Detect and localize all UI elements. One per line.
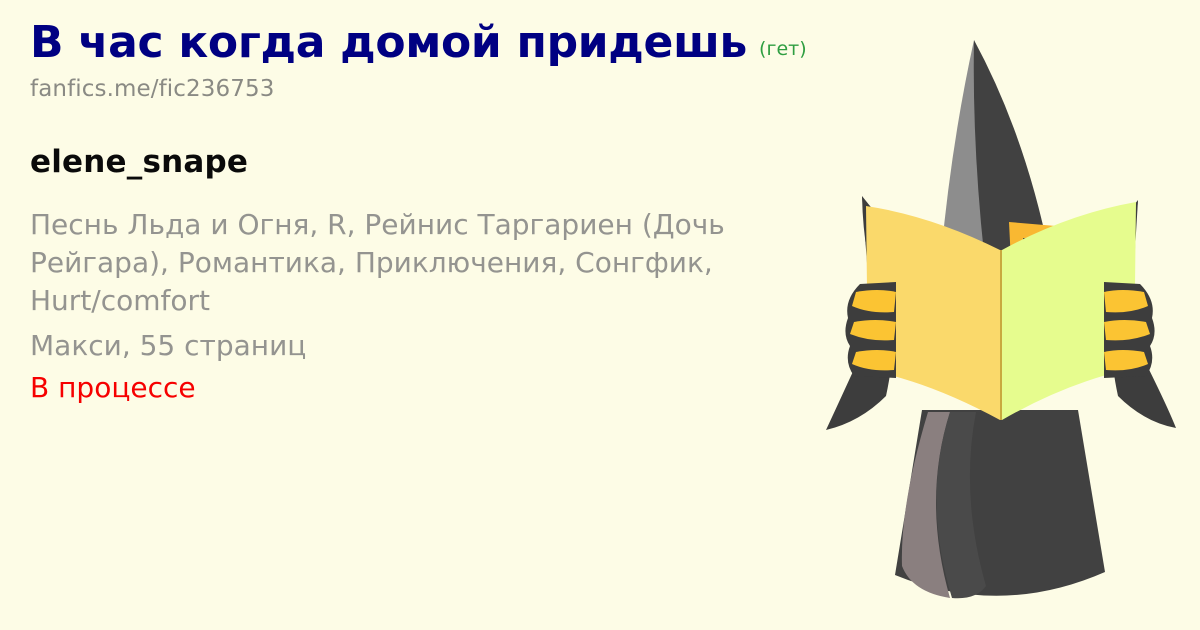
hand-right-shape (1104, 282, 1155, 378)
robe-body-group (895, 410, 1105, 598)
fic-info-column: В час когда домой придешь (гет) fanfics.… (30, 18, 830, 407)
hat-buckle (1009, 222, 1060, 282)
finger-right-1 (1104, 290, 1148, 312)
fic-category-badge: (гет) (759, 38, 807, 60)
hat-buckle-group (1009, 222, 1060, 282)
finger-right-3 (1104, 350, 1148, 370)
fic-tags: Песнь Льда и Огня, R, Рейнис Таргариен (… (30, 206, 810, 320)
fanfic-preview-card: В час когда домой придешь (гет) fanfics.… (0, 0, 1200, 630)
open-book-group (866, 202, 1136, 420)
book-page-right (1002, 202, 1136, 420)
status-badge: В процессе (30, 369, 830, 407)
hand-right (1104, 282, 1155, 378)
finger-left-1 (852, 290, 896, 312)
fic-url[interactable]: fanfics.me/fic236753 (30, 76, 830, 102)
wizard-reading-book-illustration (800, 0, 1200, 630)
hat-brim (862, 196, 1138, 332)
title-row: В час когда домой придешь (гет) (30, 18, 830, 67)
sleeve-left (826, 196, 894, 430)
finger-left-3 (852, 350, 896, 370)
finger-left-2 (850, 320, 896, 340)
robe-body (895, 410, 1105, 596)
sleeves-group (826, 196, 1176, 430)
fic-size: Макси, 55 страниц (30, 327, 830, 365)
wizard-hat-group (862, 40, 1138, 332)
hat-cone (940, 40, 1012, 268)
sleeve-right (1110, 200, 1176, 428)
robe-shadow-left (902, 412, 950, 598)
book-spine (1000, 250, 1002, 420)
hands-group (845, 282, 1154, 378)
finger-right-2 (1104, 320, 1150, 340)
robe-highlight-left (936, 412, 986, 598)
book-page-left (866, 206, 1000, 420)
hand-left (845, 282, 896, 378)
page-title: В час когда домой придешь (30, 18, 747, 67)
hat-cone-front (974, 40, 1052, 272)
hand-left-shape (845, 282, 896, 378)
hat-buckle-center (1023, 238, 1046, 268)
author-name[interactable]: elene_snape (30, 144, 830, 180)
